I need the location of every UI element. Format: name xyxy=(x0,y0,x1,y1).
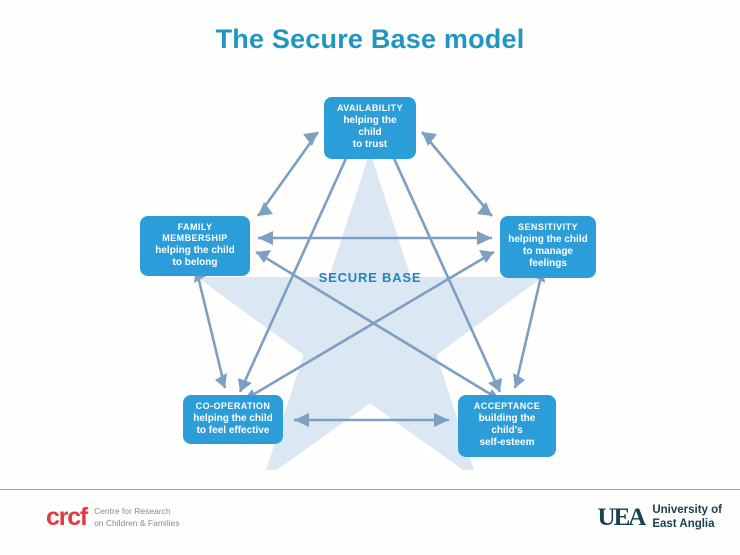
node-sensitivity-line2: to manage feelings xyxy=(508,246,588,270)
node-availability[interactable]: AVAILABILITY helping the child to trust xyxy=(324,97,416,159)
node-acceptance[interactable]: ACCEPTANCE building the child's self-est… xyxy=(458,395,556,457)
node-acceptance-line1: building the child's xyxy=(466,413,548,437)
crcf-wordmark: crcf xyxy=(46,505,87,530)
footer-divider xyxy=(0,489,740,490)
crcf-tagline-line1: Centre for Research xyxy=(94,506,180,517)
node-cooperation-line2: to feel effective xyxy=(191,425,275,437)
crcf-tagline-line2: on Children & Families xyxy=(94,518,180,529)
node-family-line1: helping the child xyxy=(148,245,242,257)
crcf-logo: crcf Centre for Research on Children & F… xyxy=(46,505,180,530)
uea-wordmark: UEA xyxy=(598,505,645,530)
uea-name-line2: East Anglia xyxy=(652,518,722,532)
node-family-membership[interactable]: FAMILY MEMBERSHIP helping the child to b… xyxy=(140,216,250,276)
node-cooperation-line1: helping the child xyxy=(191,413,275,425)
node-acceptance-title: ACCEPTANCE xyxy=(466,401,548,412)
node-availability-title: AVAILABILITY xyxy=(332,103,408,114)
node-family-title: FAMILY MEMBERSHIP xyxy=(148,222,242,244)
node-sensitivity-title: SENSITIVITY xyxy=(508,222,588,233)
arrow-family-availability xyxy=(258,132,318,216)
uea-name-line1: University of xyxy=(652,504,722,518)
slide-canvas: The Secure Base model xyxy=(0,0,740,555)
uea-name: University of East Anglia xyxy=(652,504,722,531)
node-sensitivity-line1: helping the child xyxy=(508,234,588,246)
crcf-tagline: Centre for Research on Children & Famili… xyxy=(94,506,180,528)
arrow-availability-sensitivity xyxy=(422,132,492,216)
node-family-line2: to belong xyxy=(148,257,242,269)
node-availability-line1: helping the child xyxy=(332,115,408,139)
page-title: The Secure Base model xyxy=(0,24,740,55)
secure-base-diagram: SECURE BASE AVAILABILITY helping the chi… xyxy=(0,70,740,470)
node-cooperation-title: CO-OPERATION xyxy=(191,401,275,412)
uea-logo: UEA University of East Anglia xyxy=(598,504,722,531)
node-acceptance-line2: self-esteem xyxy=(466,437,548,449)
node-cooperation[interactable]: CO-OPERATION helping the child to feel e… xyxy=(183,395,283,444)
node-sensitivity[interactable]: SENSITIVITY helping the child to manage … xyxy=(500,216,596,278)
node-availability-line2: to trust xyxy=(332,139,408,151)
